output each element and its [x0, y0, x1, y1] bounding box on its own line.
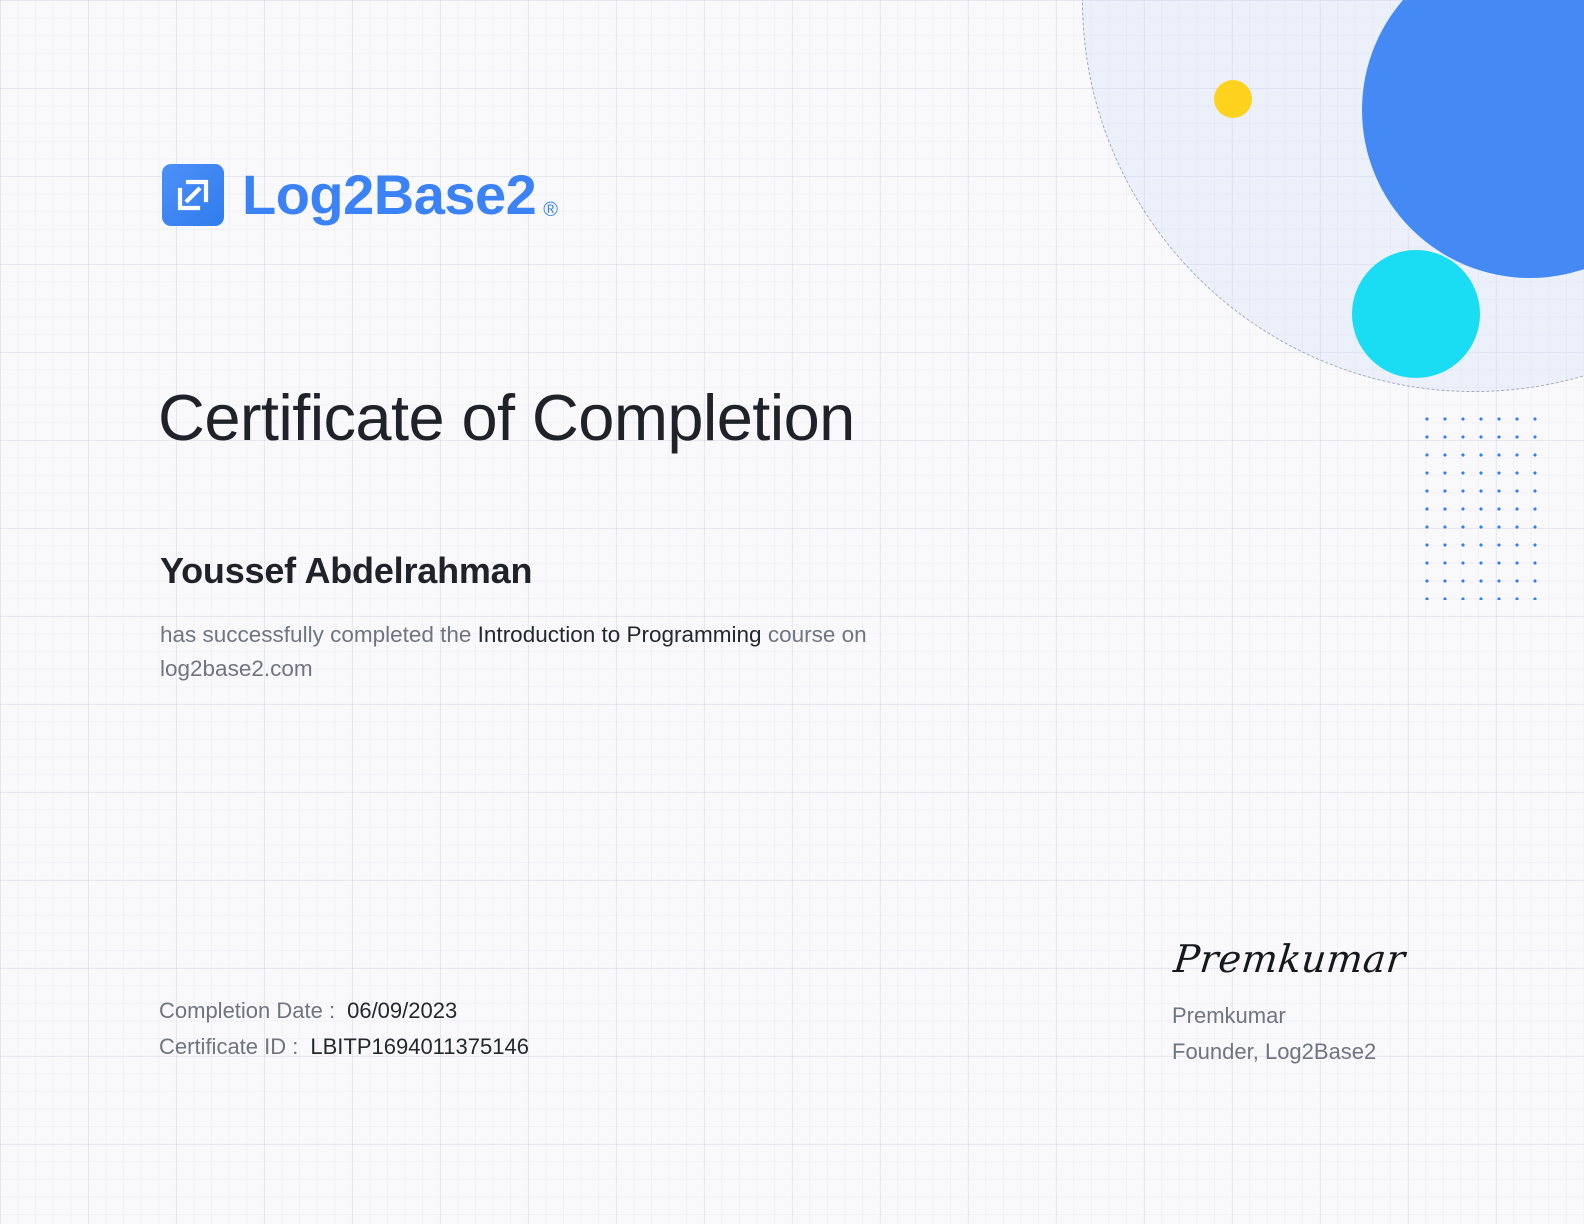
certificate-meta: Completion Date : 06/09/2023 Certificate…	[159, 993, 529, 1065]
blue-circle-decoration	[1362, 0, 1584, 278]
yellow-circle-decoration	[1214, 80, 1252, 118]
certificate-id-value: LBITP1694011375146	[310, 1029, 529, 1065]
registered-trademark-icon: ®	[543, 200, 558, 226]
signatory-role: Founder, Log2Base2	[1172, 1034, 1502, 1070]
cyan-circle-decoration	[1352, 250, 1480, 378]
certificate-id-label: Certificate ID :	[159, 1029, 298, 1065]
expand-arrow-icon	[162, 164, 224, 226]
page-title: Certificate of Completion	[158, 382, 855, 454]
completion-statement: has successfully completed the Introduct…	[160, 618, 920, 686]
halo-circle-decoration	[1082, 0, 1584, 392]
dot-grid-decoration	[1414, 406, 1538, 600]
completion-date-label: Completion Date :	[159, 993, 335, 1029]
signatory-name: Premkumar	[1172, 998, 1502, 1034]
completion-date-value: 06/09/2023	[347, 993, 457, 1029]
brand-logo: Log2Base2 ®	[162, 164, 558, 226]
signature-mark: Premkumar	[1172, 940, 1506, 978]
completion-date-row: Completion Date : 06/09/2023	[159, 993, 529, 1029]
dashed-arc-decoration	[1082, 0, 1584, 392]
signature-block: Premkumar Premkumar Founder, Log2Base2	[1172, 940, 1502, 1070]
course-name: Introduction to Programming	[478, 622, 762, 647]
recipient-name: Youssef Abdelrahman	[160, 549, 532, 592]
certificate-canvas: Log2Base2 ® Certificate of Completion Yo…	[0, 0, 1584, 1224]
brand-wordmark: Log2Base2	[242, 167, 536, 223]
statement-prefix: has successfully completed the	[160, 622, 478, 647]
certificate-id-row: Certificate ID : LBITP1694011375146	[159, 1029, 529, 1065]
